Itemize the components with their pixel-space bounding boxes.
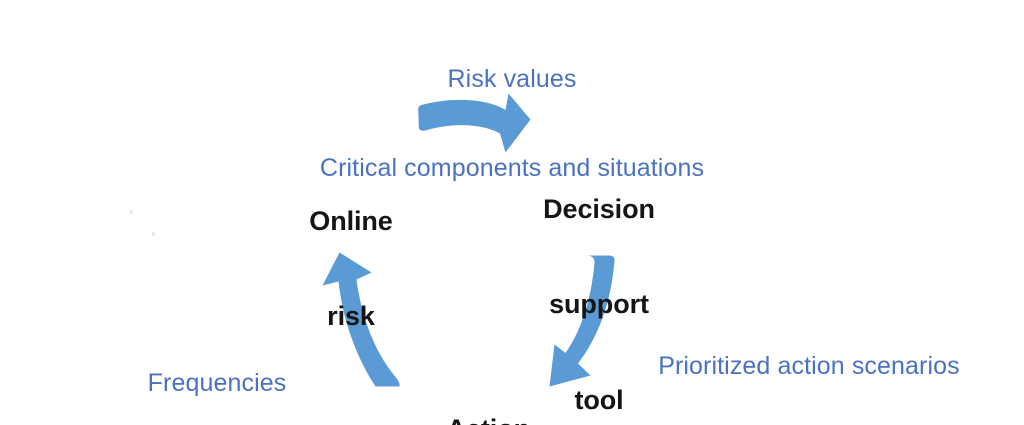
node-action-label: Action	[447, 414, 530, 425]
node-online-risk-line1: Online	[288, 206, 414, 238]
edge-label-left: Frequencies Decision scenarios	[88, 310, 346, 425]
edge-label-right: Prioritized action scenarios	[630, 322, 960, 411]
edge-label-top-line1: Risk values	[0, 65, 1024, 95]
node-decision-support-tool-line2: support	[520, 289, 678, 321]
edge-label-top-line2: Critical components and situations	[0, 154, 1024, 184]
edge-label-left-line1: Frequencies	[88, 369, 346, 399]
edge-label-top: Risk values Critical components and situ…	[0, 6, 1024, 242]
node-decision-support-tool-line1: Decision	[520, 194, 678, 226]
scan-speck	[152, 232, 155, 236]
node-action: Action	[402, 382, 546, 425]
scan-speck	[130, 210, 133, 214]
diagram-canvas: Risk values Critical components and situ…	[0, 0, 1024, 425]
edge-label-right-line1: Prioritized action scenarios	[658, 352, 960, 380]
